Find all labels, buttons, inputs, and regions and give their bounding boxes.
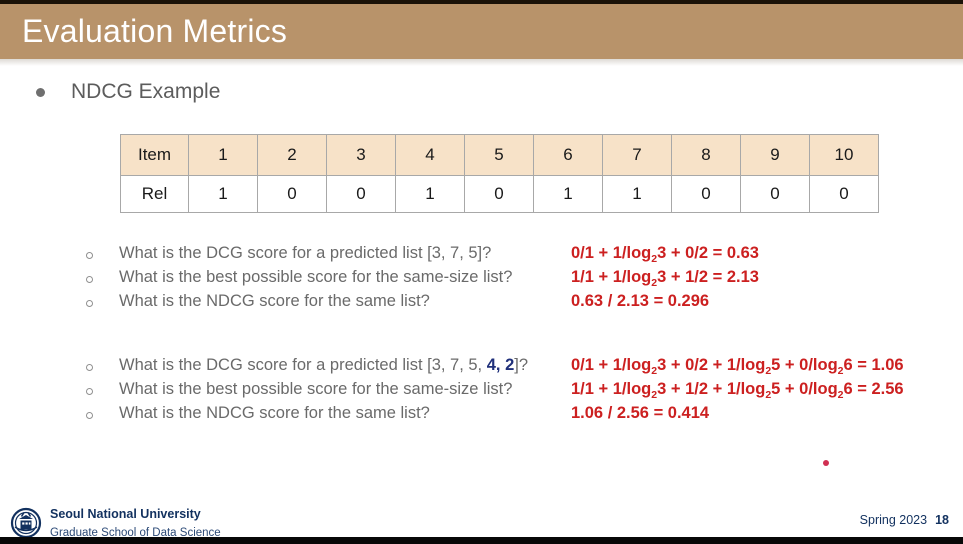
sub-bullet-circle-icon	[86, 252, 93, 259]
qa-answer-text: 0/1 + 1/log23 + 0/2 = 0.63	[571, 244, 759, 263]
sub-bullet-circle-icon	[86, 300, 93, 307]
bottom-accent-bar	[0, 537, 963, 544]
table-cell-rel-9: 0	[741, 176, 810, 213]
relevance-table: Item 1 2 3 4 5 6 7 8 9 10 Rel 1 0 0 1 0 …	[120, 134, 879, 213]
qa-question-text: What is the DCG score for a predicted li…	[119, 244, 491, 263]
bullet-dot-icon	[36, 88, 45, 97]
table-cell-item-3: 3	[327, 135, 396, 176]
sub-bullet-circle-icon	[86, 388, 93, 395]
sub-bullet-circle-icon	[86, 276, 93, 283]
table-cell-item-6: 6	[534, 135, 603, 176]
qa-question-text: What is the best possible score for the …	[119, 268, 512, 287]
table-cell-item-7: 7	[603, 135, 672, 176]
qa-question-text: What is the DCG score for a predicted li…	[119, 356, 528, 375]
table-cell-rel-2: 0	[258, 176, 327, 213]
qa-answer-text: 1/1 + 1/log23 + 1/2 + 1/log25 + 0/log26 …	[571, 380, 904, 399]
question-highlight: 4, 2	[487, 356, 515, 374]
qa-answer-text: 1/1 + 1/log23 + 1/2 = 2.13	[571, 268, 759, 287]
qa-answer-text: 1.06 / 2.56 = 0.414	[571, 404, 709, 423]
qa-answer-text: 0/1 + 1/log23 + 0/2 + 1/log25 + 0/log26 …	[571, 356, 904, 375]
university-emblem-icon	[10, 507, 42, 539]
table-rowheader-item: Item	[121, 135, 189, 176]
heading-bullet-row: NDCG Example	[36, 80, 220, 104]
table-cell-item-1: 1	[189, 135, 258, 176]
qa-question-text: What is the NDCG score for the same list…	[119, 292, 430, 311]
sub-bullet-circle-icon	[86, 412, 93, 419]
qa-question-text: What is the best possible score for the …	[119, 380, 512, 399]
slide-title-band: Evaluation Metrics	[0, 4, 963, 59]
table-row-item: Item 1 2 3 4 5 6 7 8 9 10	[121, 135, 879, 176]
table-cell-item-10: 10	[810, 135, 879, 176]
table-cell-rel-8: 0	[672, 176, 741, 213]
table-cell-item-4: 4	[396, 135, 465, 176]
table-cell-rel-3: 0	[327, 176, 396, 213]
heading-bullet-label: NDCG Example	[71, 80, 220, 104]
table-cell-rel-10: 0	[810, 176, 879, 213]
footer-term-and-page: Spring 202318	[860, 513, 949, 527]
sub-bullet-circle-icon	[86, 364, 93, 371]
table-cell-item-5: 5	[465, 135, 534, 176]
table-cell-rel-6: 1	[534, 176, 603, 213]
table-cell-rel-5: 0	[465, 176, 534, 213]
qa-answer-text: 0.63 / 2.13 = 0.296	[571, 292, 709, 311]
page-title: Evaluation Metrics	[22, 12, 287, 49]
table-rowheader-rel: Rel	[121, 176, 189, 213]
table-row-rel: Rel 1 0 0 1 0 1 1 0 0 0	[121, 176, 879, 213]
footer-page-number: 18	[935, 513, 949, 527]
table-cell-item-9: 9	[741, 135, 810, 176]
qa-question-text: What is the NDCG score for the same list…	[119, 404, 430, 423]
footer-university-name: Seoul National University	[50, 507, 201, 521]
stray-red-dot-marker	[823, 460, 829, 466]
table-cell-item-8: 8	[672, 135, 741, 176]
footer-term: Spring 2023	[860, 513, 927, 527]
table-cell-rel-7: 1	[603, 176, 672, 213]
table-cell-item-2: 2	[258, 135, 327, 176]
table-cell-rel-4: 1	[396, 176, 465, 213]
table-cell-rel-1: 1	[189, 176, 258, 213]
title-band-shadow	[0, 59, 963, 66]
